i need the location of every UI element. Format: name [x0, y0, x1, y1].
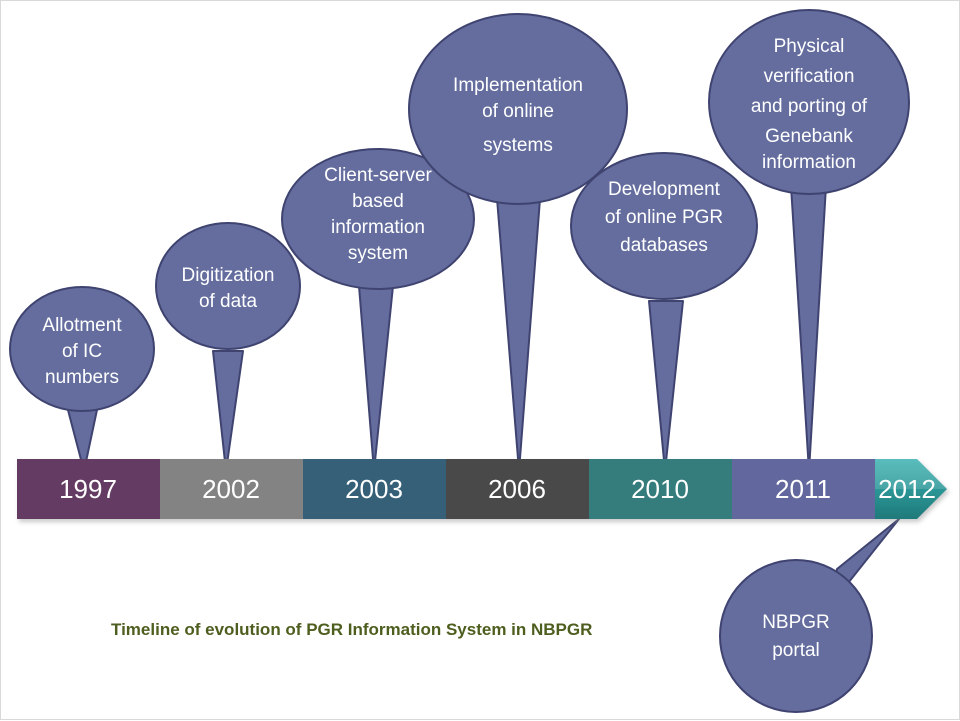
- callout-line: numbers: [45, 367, 119, 388]
- callout-bubble-shape: [720, 560, 872, 712]
- callout-bubble-shape: [156, 223, 300, 349]
- callout-line: Implementation: [453, 75, 583, 96]
- tail-2010: [649, 301, 683, 471]
- callout-line: verification: [764, 66, 855, 87]
- year-label-2012: 2012: [878, 474, 936, 504]
- callout-line: system: [348, 243, 408, 264]
- callout-line: portal: [772, 640, 820, 661]
- callout-line: databases: [620, 235, 708, 256]
- callout-line: Allotment: [42, 315, 122, 336]
- callout-line: NBPGR: [762, 612, 830, 633]
- callout-allotment-of-ic-numbers[interactable]: Allotment of IC numbers: [10, 287, 154, 411]
- year-label-2003: 2003: [345, 474, 403, 504]
- callout-line: Development: [608, 179, 721, 200]
- callout-line: Digitization: [182, 265, 275, 286]
- tail-2002: [213, 351, 243, 471]
- callout-line: systems: [483, 135, 553, 156]
- year-label-2002: 2002: [202, 474, 260, 504]
- callout-line: of IC: [62, 341, 102, 362]
- year-label-1997: 1997: [59, 474, 117, 504]
- callout-line: of online: [482, 101, 554, 122]
- tail-2006: [496, 186, 541, 471]
- year-label-2011: 2011: [775, 474, 831, 504]
- callout-line: information: [762, 152, 856, 173]
- diagram-canvas: 1997 2002 2003 2006 2010 2011 2012 Allot…: [1, 1, 960, 721]
- year-label-2010: 2010: [631, 474, 689, 504]
- callout-physical-verification-and-porting-of-genebank-information[interactable]: Physical verification and porting of Gen…: [709, 10, 909, 194]
- year-label-2006: 2006: [488, 474, 546, 504]
- callout-line: information: [331, 217, 425, 238]
- callout-line: of data: [199, 291, 258, 312]
- callout-line: based: [352, 191, 404, 212]
- callout-digitization-of-data[interactable]: Digitization of data: [156, 223, 300, 349]
- tail-2011: [791, 186, 826, 471]
- callout-development-of-online-pgr-databases[interactable]: Development of online PGR databases: [571, 153, 757, 299]
- callout-line: and porting of: [751, 96, 868, 117]
- callout-implementation-of-online-systems[interactable]: Implementation of online systems: [409, 14, 627, 204]
- figure-caption: Timeline of evolution of PGR Information…: [111, 620, 592, 639]
- callout-line: Physical: [774, 36, 845, 57]
- timeline-diagram: 1997 2002 2003 2006 2010 2011 2012 Allot…: [0, 0, 960, 720]
- callout-line: Genebank: [765, 126, 853, 147]
- callout-nbpgr-portal[interactable]: NBPGR portal: [720, 560, 872, 712]
- callout-line: of online PGR: [605, 207, 723, 228]
- callout-line: Client-server: [324, 165, 432, 186]
- tail-2003: [359, 286, 393, 471]
